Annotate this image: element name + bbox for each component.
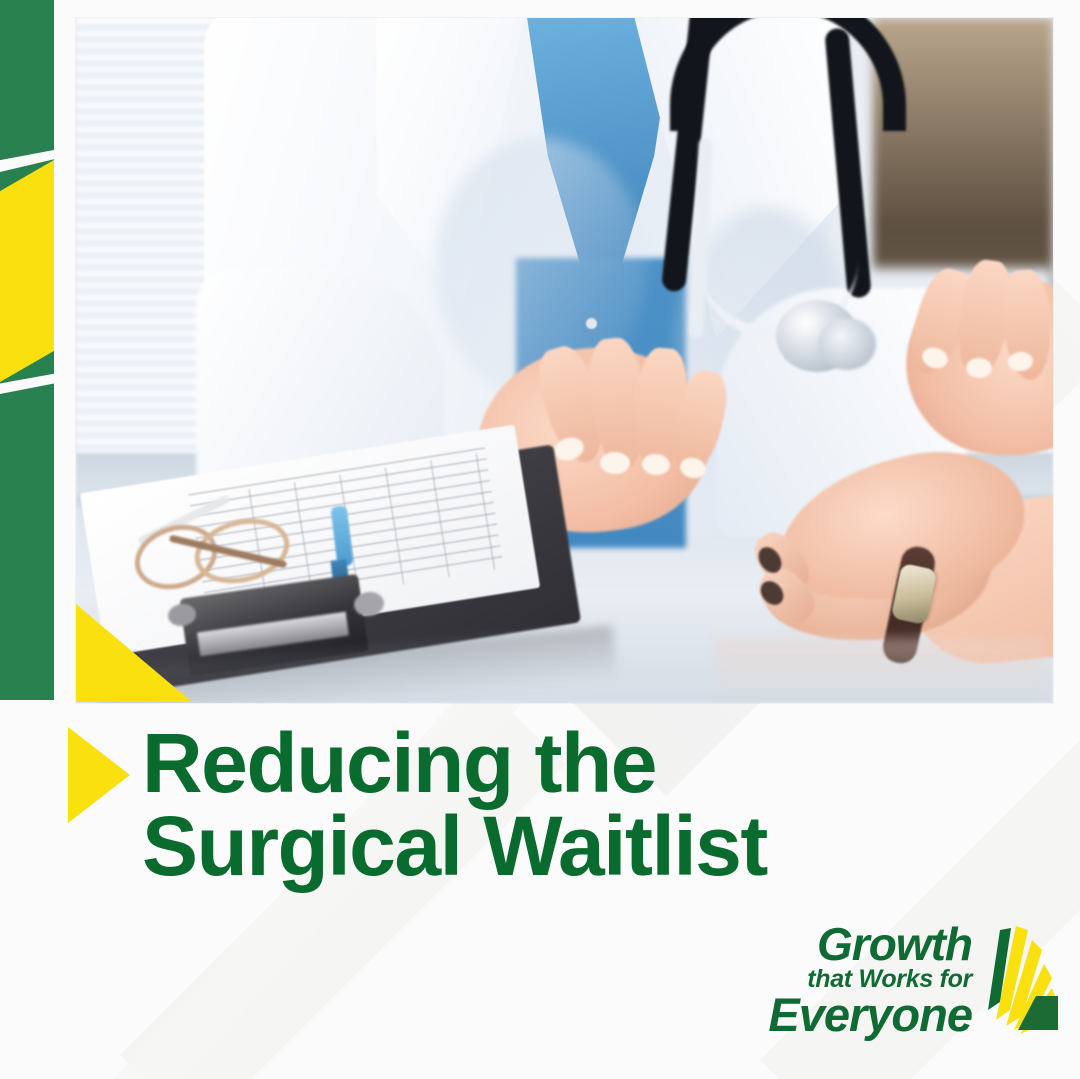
hero-photo [76,18,1053,703]
page-title: Reducing the Surgical Waitlist [142,722,972,888]
poster-canvas: Reducing the Surgical Waitlist Growth th… [0,0,1080,1079]
left-accent-bar-yellow-segment [0,160,54,382]
brand-logo-line-1: Growth [762,922,972,966]
doctor-right-fingernail-2 [966,358,992,378]
page-title-line-2: Surgical Waitlist [142,805,972,888]
doctor-fingernail-2 [600,452,630,474]
brand-logo-text: Growth that Works for Everyone [762,922,972,1042]
brand-logo-line-3: Everyone [762,992,972,1038]
hero-photo-content [76,18,1053,703]
brand-logo: Growth that Works for Everyone [762,922,1062,1052]
left-accent-bar [0,0,54,700]
coat-button [586,318,597,329]
stethoscope-chestpiece-secondary [818,318,876,370]
wheat-sheaf-mark-icon [970,924,1062,1042]
page-title-line-1: Reducing the [142,716,656,810]
stethoscope-lower-tube [698,78,858,341]
yellow-triangle-bullet-icon [68,727,130,823]
desk-reflection-right [716,638,1046,703]
